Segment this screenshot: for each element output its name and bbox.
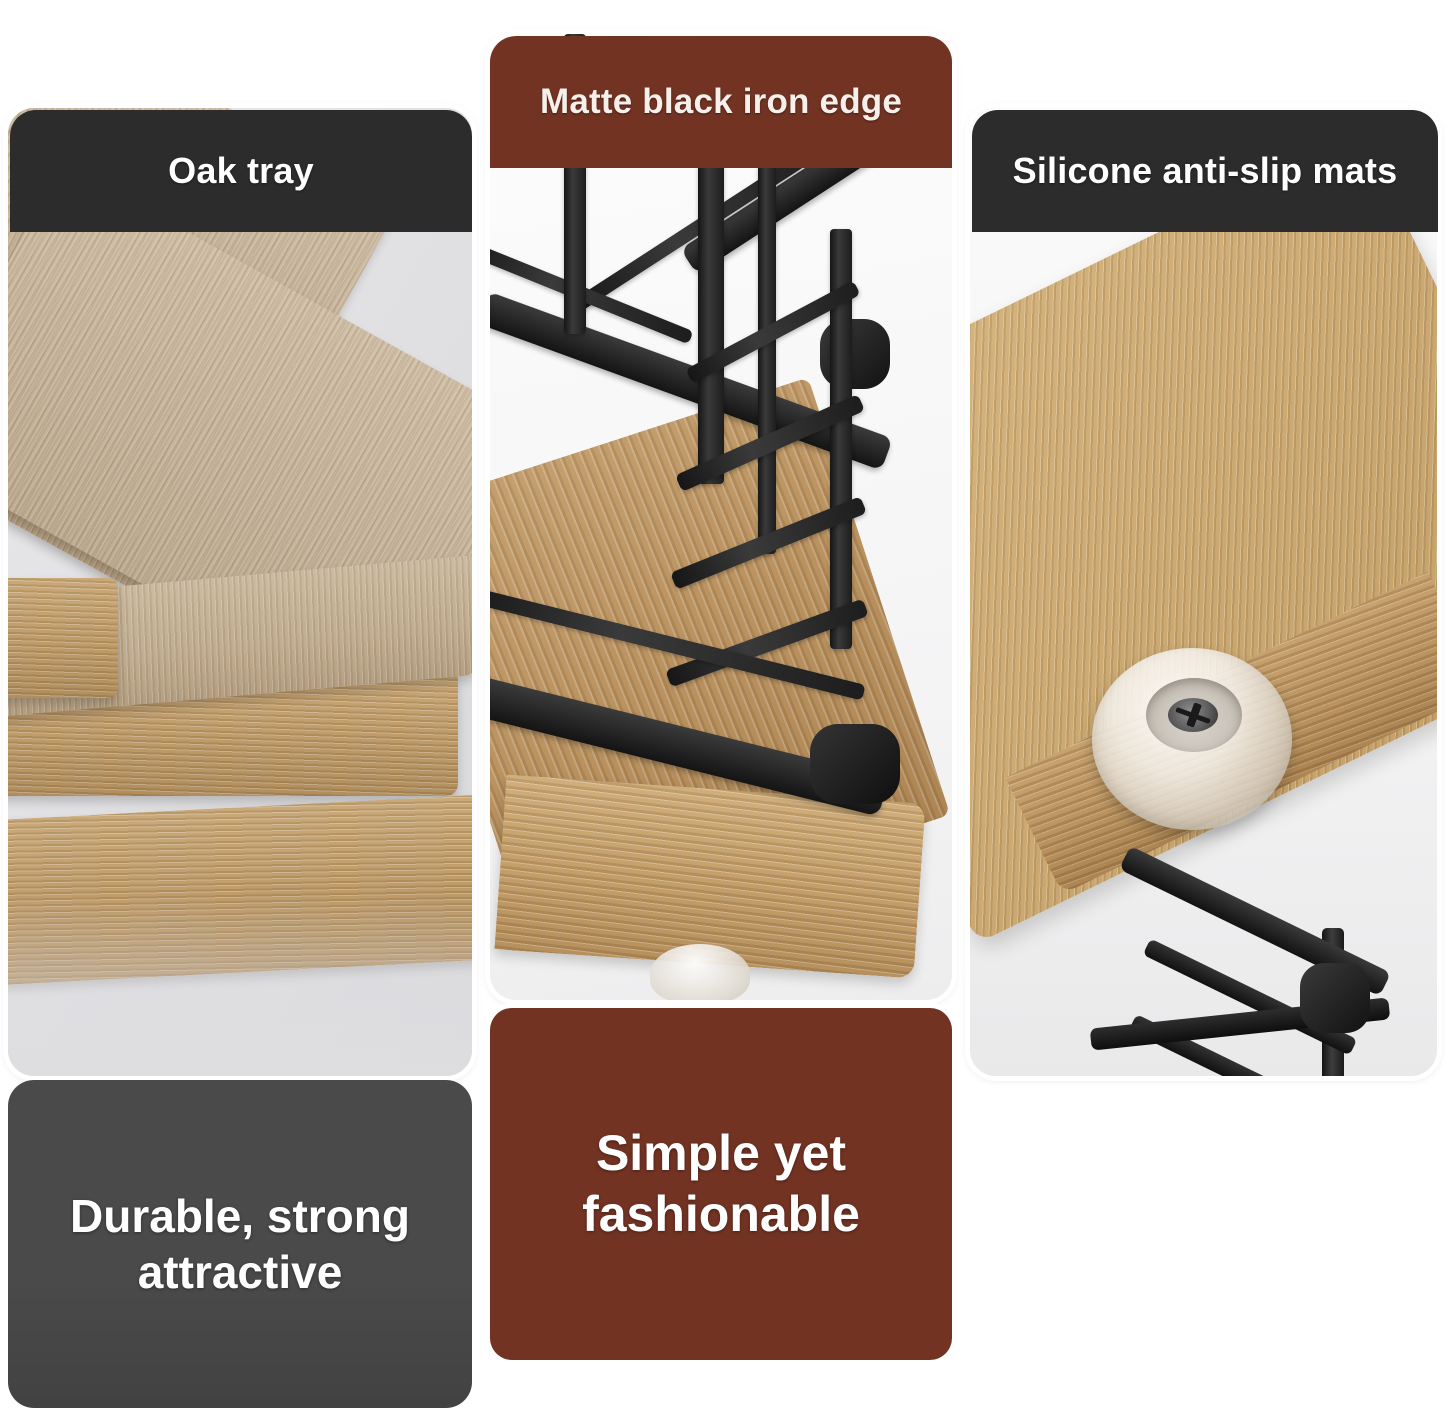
iron-frame-corner-bend — [1300, 963, 1370, 1033]
wood-block-left — [8, 578, 118, 698]
caption-simple-yet-fashionable: Simple yet fashionable — [490, 1008, 952, 1360]
header-matte-black-iron-edge: Matte black iron edge — [490, 36, 952, 168]
caption-line-2: fashionable — [582, 1184, 860, 1245]
photo-silicone-anti-slip-mats — [970, 108, 1437, 1076]
caption-durable-strong-attractive: Durable, strong attractive — [8, 1080, 472, 1408]
photo-matte-black-iron-edge — [490, 34, 952, 1000]
caption-line-1: Simple yet — [582, 1123, 860, 1184]
header-oak-tray: Oak tray — [10, 110, 472, 232]
caption-line-2: attractive — [70, 1244, 410, 1300]
caption-text: Simple yet fashionable — [582, 1123, 860, 1245]
silicone-mat-scene — [970, 108, 1437, 1076]
caption-text: Durable, strong attractive — [70, 1188, 410, 1300]
header-label: Matte black iron edge — [540, 82, 902, 122]
oak-tray-scene — [8, 108, 472, 1076]
header-label: Silicone anti-slip mats — [1013, 150, 1398, 192]
photo-oak-tray — [8, 108, 472, 1076]
iron-tray-lip-corner — [810, 724, 900, 804]
panel-silicone-anti-slip-mats: Silicone anti-slip mats Safeguard the su… — [962, 0, 1445, 1408]
iron-edge-scene — [490, 34, 952, 1000]
panel-oak-tray: Oak tray Durable, strong attractive — [0, 0, 480, 1408]
caption-line-1: Durable, strong — [70, 1188, 410, 1244]
iron-post-3 — [758, 164, 776, 554]
screw-icon — [1168, 698, 1218, 732]
backdrop-shadow — [8, 896, 472, 1076]
silicone-foot-peek — [650, 944, 750, 1000]
header-silicone-anti-slip-mats: Silicone anti-slip mats — [972, 110, 1438, 232]
header-label: Oak tray — [168, 150, 314, 192]
product-feature-collage: Oak tray Durable, strong attractive — [0, 0, 1445, 1408]
